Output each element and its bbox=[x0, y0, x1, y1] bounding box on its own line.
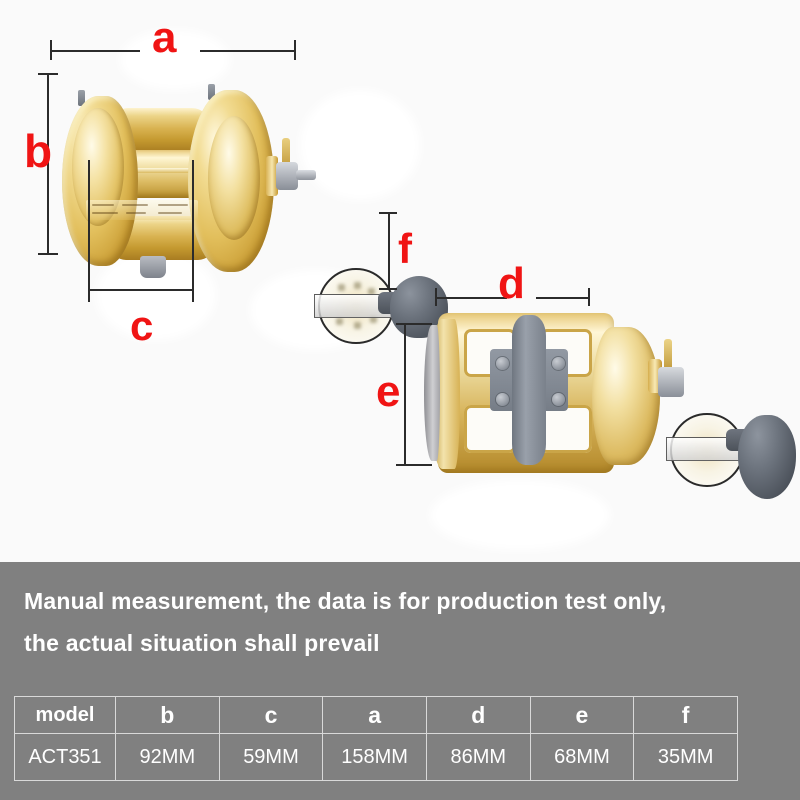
reel-side-view bbox=[60, 78, 310, 278]
cell-a: 158MM bbox=[323, 734, 427, 781]
background-blob bbox=[300, 90, 420, 200]
specification-table: model b c a d e f ACT351 92MM 59MM 158MM… bbox=[14, 696, 738, 781]
dimension-extension-c-left bbox=[88, 160, 90, 302]
dimension-line-e bbox=[404, 323, 406, 466]
reel-clamp-screw bbox=[552, 393, 565, 406]
dimension-label-e: e bbox=[376, 370, 400, 414]
dimension-line-a-left bbox=[50, 50, 140, 52]
dimension-tick-a-end bbox=[294, 40, 296, 60]
table-header-row: model b c a d e f bbox=[15, 697, 738, 734]
table-header-c: c bbox=[219, 697, 323, 734]
product-photo-area: a b c f d e bbox=[0, 0, 800, 562]
table-header-b: b bbox=[116, 697, 220, 734]
reel-gear-housing bbox=[276, 162, 298, 190]
product-spec-image: a b c f d e Manual measurement, the data… bbox=[0, 0, 800, 800]
dimension-line-d-left bbox=[435, 297, 507, 299]
cell-d: 86MM bbox=[426, 734, 530, 781]
reel-clamp-screw bbox=[496, 393, 509, 406]
disclaimer-line-2: the actual situation shall prevail bbox=[24, 622, 774, 664]
disclaimer-text: Manual measurement, the data is for prod… bbox=[24, 580, 774, 664]
cell-f: 35MM bbox=[634, 734, 738, 781]
dimension-label-b: b bbox=[24, 128, 52, 174]
table-header-f: f bbox=[634, 697, 738, 734]
table-header-d: d bbox=[426, 697, 530, 734]
dimension-tick-e-bottom bbox=[396, 464, 432, 466]
dimension-tick-f-top bbox=[379, 212, 397, 214]
dimension-extension-c-right bbox=[192, 160, 194, 302]
dimension-tick-e-top bbox=[396, 323, 432, 325]
dimension-line-a-right bbox=[200, 50, 296, 52]
dimension-label-d: d bbox=[498, 262, 525, 306]
reel-handle-knob bbox=[738, 415, 796, 499]
reel-cage-cutout bbox=[540, 405, 592, 453]
dimension-label-c: c bbox=[130, 305, 153, 347]
reel-right-side-plate bbox=[592, 327, 660, 465]
reel-gear-housing bbox=[658, 367, 684, 397]
dimension-label-a: a bbox=[152, 16, 176, 60]
table-row: ACT351 92MM 59MM 158MM 86MM 68MM 35MM bbox=[15, 734, 738, 781]
reel-rod-foot bbox=[140, 256, 166, 278]
dimension-line-d-right bbox=[536, 297, 590, 299]
reel-clamp-screw bbox=[552, 357, 565, 370]
dimension-tick-a-start bbox=[50, 40, 52, 60]
dimension-tick-d-start bbox=[435, 288, 437, 306]
cell-b: 92MM bbox=[116, 734, 220, 781]
table-header-model: model bbox=[15, 697, 116, 734]
reel-spec-label bbox=[86, 200, 198, 220]
reel-right-plate-inner bbox=[208, 116, 260, 240]
disclaimer-line-1: Manual measurement, the data is for prod… bbox=[24, 580, 774, 622]
dimension-line-c bbox=[88, 289, 194, 291]
disclaimer-banner: Manual measurement, the data is for prod… bbox=[0, 562, 800, 800]
reel-spool-edge bbox=[424, 325, 440, 461]
reel-handle-shaft bbox=[296, 170, 316, 180]
dimension-tick-d-end bbox=[588, 288, 590, 306]
table-header-e: e bbox=[530, 697, 634, 734]
cell-e: 68MM bbox=[530, 734, 634, 781]
dimension-label-f: f bbox=[398, 228, 412, 270]
cell-model: ACT351 bbox=[15, 734, 116, 781]
cell-c: 59MM bbox=[219, 734, 323, 781]
reel-rod-clamp-bar bbox=[512, 315, 546, 465]
reel-cage-cutout bbox=[464, 405, 516, 453]
dimension-line-f bbox=[388, 212, 390, 290]
dimension-tick-b-bottom bbox=[38, 253, 58, 255]
dimension-tick-f-bottom bbox=[379, 288, 397, 290]
dimension-tick-b-top bbox=[38, 73, 58, 75]
table-header-a: a bbox=[323, 697, 427, 734]
reel-clamp-screw bbox=[496, 357, 509, 370]
reel-front-view bbox=[420, 305, 750, 535]
